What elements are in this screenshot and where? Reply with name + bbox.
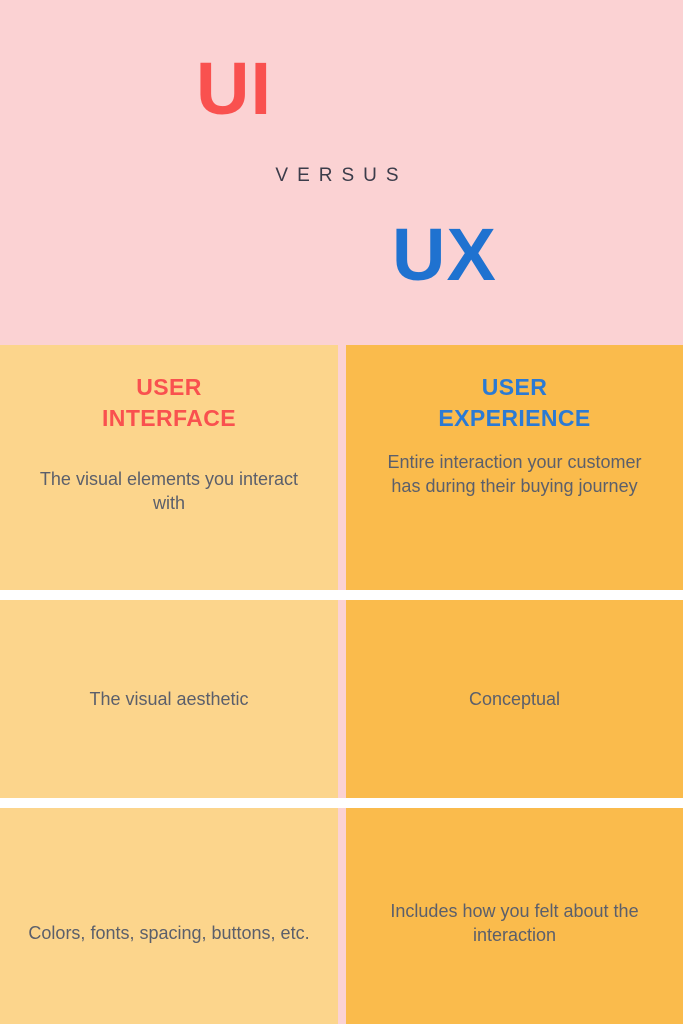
column-title-line-2: INTERFACE (102, 403, 236, 434)
ui-vs-ux-infographic: UI VERSUS UX USER INTERFACE The visual e… (0, 0, 683, 1024)
cell-user-experience-row-2: Conceptual (346, 600, 683, 798)
cell-user-experience-row-1: USER EXPERIENCE Entire interaction your … (346, 345, 683, 590)
hero-versus-label: VERSUS (0, 165, 683, 187)
row-divider-1 (0, 590, 683, 600)
column-title-line-1: USER (102, 372, 236, 403)
cell-text-ui-row-1: The visual elements you interact with (0, 467, 338, 516)
cell-user-experience-row-3: Includes how you felt about the interact… (346, 808, 683, 1024)
column-title-user-experience: USER EXPERIENCE (424, 372, 604, 433)
comparison-row-2: The visual aesthetic Conceptual (0, 600, 683, 798)
comparison-grid: USER INTERFACE The visual elements you i… (0, 345, 683, 1024)
cell-text-ux-row-1: Entire interaction your customer has dur… (346, 450, 683, 499)
cell-user-interface-row-2: The visual aesthetic (0, 600, 338, 798)
cell-text-ui-row-2: The visual aesthetic (63, 687, 274, 711)
hero-band: UI VERSUS UX (0, 0, 683, 345)
row-divider-2 (0, 798, 683, 808)
column-title-line-2: EXPERIENCE (438, 403, 590, 434)
column-gutter-row-1 (338, 345, 346, 590)
column-gutter-row-2 (338, 600, 346, 798)
cell-user-interface-row-3: Colors, fonts, spacing, buttons, etc. (0, 808, 338, 1024)
column-title-line-1: USER (438, 372, 590, 403)
cell-text-ui-row-3: Colors, fonts, spacing, buttons, etc. (2, 921, 335, 945)
comparison-row-3: Colors, fonts, spacing, buttons, etc. In… (0, 808, 683, 1024)
cell-user-interface-row-1: USER INTERFACE The visual elements you i… (0, 345, 338, 590)
hero-ux-title: UX (392, 218, 497, 292)
column-title-user-interface: USER INTERFACE (88, 372, 250, 433)
hero-ui-title: UI (196, 52, 272, 126)
column-gutter-row-3 (338, 808, 346, 1024)
cell-text-ux-row-3: Includes how you felt about the interact… (346, 899, 683, 948)
comparison-row-1: USER INTERFACE The visual elements you i… (0, 345, 683, 590)
cell-text-ux-row-2: Conceptual (443, 687, 586, 711)
